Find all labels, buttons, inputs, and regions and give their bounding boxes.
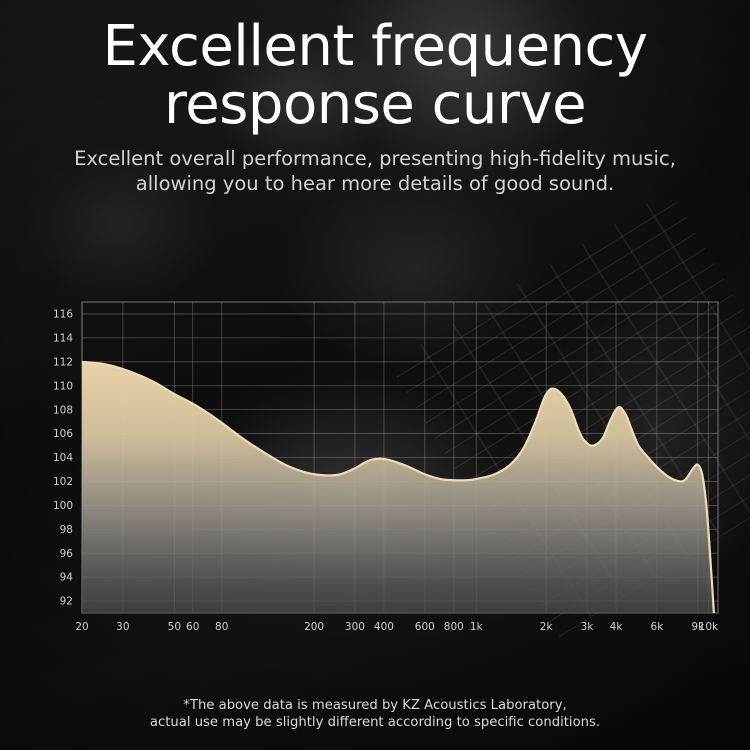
y-axis-tick-label: 96 <box>60 548 74 560</box>
frequency-response-banner: Excellent frequency response curve Excel… <box>0 0 750 750</box>
y-axis-tick-label: 106 <box>53 428 73 440</box>
y-axis-tick-label: 114 <box>53 332 73 344</box>
y-axis-tick-label: 104 <box>53 452 73 464</box>
footnote-line-2: actual use may be slightly different acc… <box>150 715 600 730</box>
page-title-line-1: Excellent frequency <box>103 14 648 79</box>
footnote-block: *The above data is measured by KZ Acoust… <box>0 697 750 732</box>
y-axis-tick-label: 110 <box>53 380 73 392</box>
x-axis-tick-label: 300 <box>345 621 365 633</box>
x-axis-tick-label: 80 <box>215 621 228 633</box>
y-axis-tick-label: 98 <box>60 524 73 536</box>
x-axis-tick-label: 4k <box>610 621 624 633</box>
footnote-line-1: *The above data is measured by KZ Acoust… <box>183 698 566 713</box>
x-axis-tick-labels: 20305060802003004006008001k2k3k4k6k9k10k <box>75 621 719 633</box>
y-axis-tick-label: 102 <box>53 476 73 488</box>
x-axis-tick-label: 3k <box>581 621 595 633</box>
x-axis-tick-label: 1k <box>470 621 484 633</box>
y-axis-tick-label: 94 <box>60 572 74 584</box>
frequency-response-chart: 11611411211010810610410210098969492 2030… <box>0 285 750 650</box>
y-axis-tick-labels: 11611411211010810610410210098969492 <box>53 309 73 608</box>
chart-canvas: 11611411211010810610410210098969492 2030… <box>0 285 750 650</box>
page-subtitle-line-2: allowing you to hear more details of goo… <box>136 172 614 195</box>
y-axis-tick-label: 112 <box>53 356 73 368</box>
y-axis-tick-label: 92 <box>60 596 73 608</box>
page-subtitle: Excellent overall performance, presentin… <box>0 147 750 197</box>
y-axis-tick-label: 116 <box>53 309 73 321</box>
page-subtitle-line-1: Excellent overall performance, presentin… <box>74 147 676 170</box>
chart-area-fill <box>82 362 714 650</box>
x-axis-tick-label: 30 <box>116 621 129 633</box>
x-axis-tick-label: 600 <box>415 621 435 633</box>
x-axis-tick-label: 60 <box>186 621 199 633</box>
x-axis-tick-label: 6k <box>651 621 665 633</box>
x-axis-tick-label: 10k <box>699 621 719 633</box>
page-title: Excellent frequency response curve <box>0 18 750 133</box>
x-axis-tick-label: 2k <box>540 621 554 633</box>
y-axis-tick-label: 108 <box>53 404 73 416</box>
x-axis-tick-label: 200 <box>304 621 324 633</box>
x-axis-tick-label: 800 <box>444 621 464 633</box>
page-title-line-2: response curve <box>164 72 586 137</box>
y-axis-tick-label: 100 <box>53 500 73 512</box>
x-axis-tick-label: 400 <box>374 621 394 633</box>
x-axis-tick-label: 20 <box>75 621 88 633</box>
header-block: Excellent frequency response curve Excel… <box>0 18 750 197</box>
x-axis-tick-label: 50 <box>168 621 181 633</box>
